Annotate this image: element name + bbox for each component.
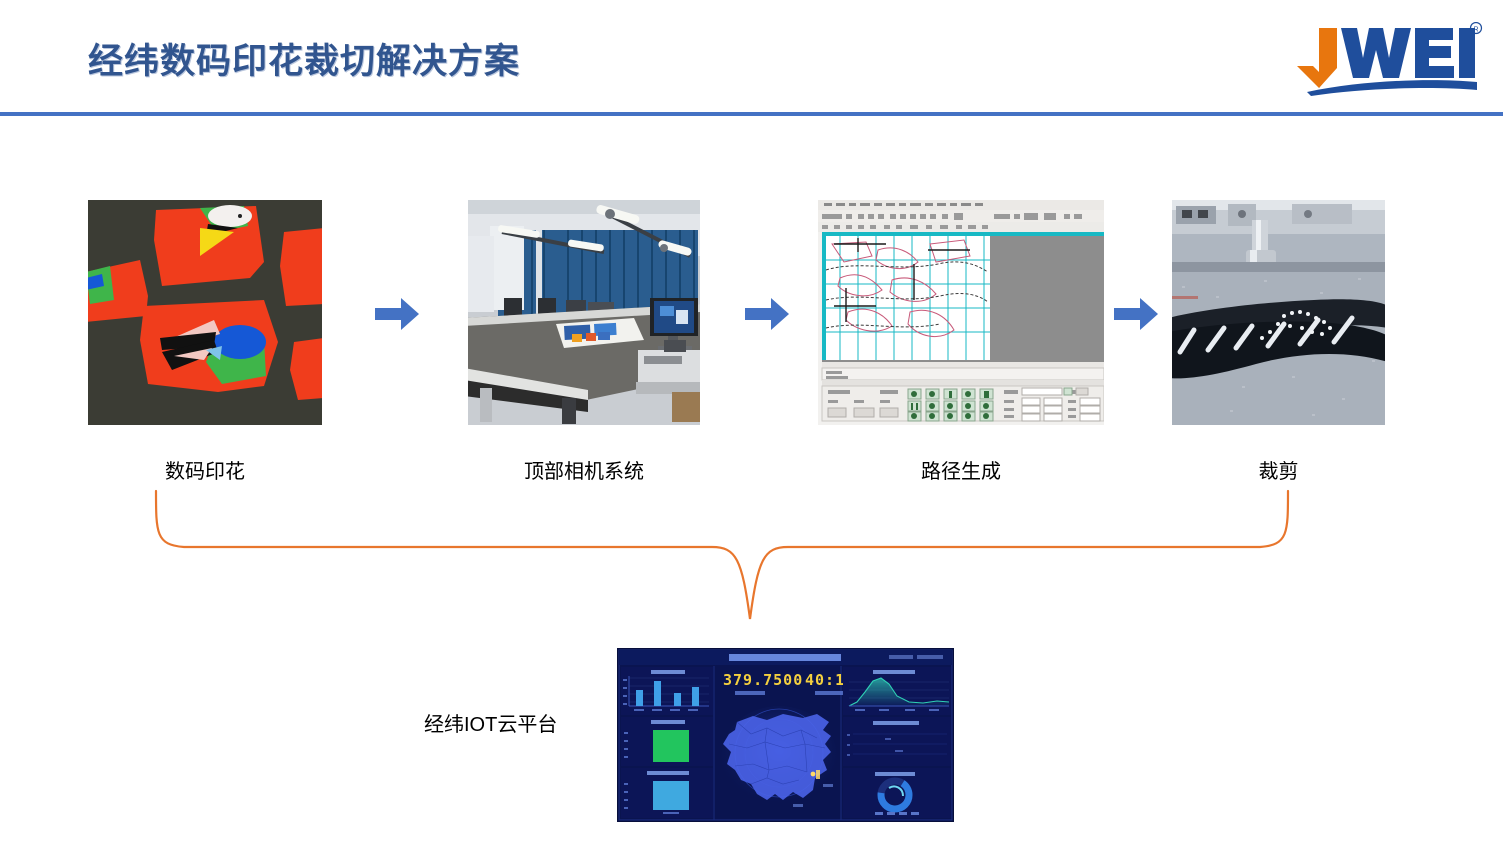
flow-step-3-label: 路径生成: [818, 455, 1104, 484]
header-divider: [0, 112, 1503, 116]
svg-text:R: R: [1473, 27, 1478, 34]
left-panel-blue-block: [621, 768, 713, 818]
flow-step-2-label: 顶部相机系统: [468, 455, 700, 484]
flow-arrow-3: [1114, 297, 1158, 331]
right-panel-empty-chart: [843, 717, 951, 766]
flow-step-2-image: [468, 200, 700, 425]
page-title: 经纬数码印花裁切解决方案: [88, 33, 520, 84]
iot-platform-label: 经纬IOT云平台: [424, 708, 557, 737]
left-panel-bar-chart: [621, 667, 713, 715]
flow-step-3-image: [818, 200, 1104, 425]
logo-letter-j: [1297, 28, 1337, 88]
flow-step-4-label: 裁剪: [1172, 455, 1385, 484]
logo-letter-wei: [1341, 28, 1475, 78]
right-panel-area-chart: [843, 667, 951, 715]
flow-step-1-image: [88, 200, 322, 425]
left-panel-green-block: [621, 717, 713, 766]
dashboard-title: [729, 654, 841, 661]
grouping-brace: [140, 487, 1305, 622]
flow-step-1-label: 数码印花: [88, 455, 322, 484]
jwei-logo: R: [1293, 22, 1483, 100]
flow-arrow-1: [375, 297, 419, 331]
iot-dashboard-image: 379.7500 40:19'26": [617, 648, 954, 822]
right-panel-donut-gauge: [843, 768, 951, 818]
slide-header: 经纬数码印花裁切解决方案 R: [0, 0, 1503, 115]
flow-step-4-image: [1172, 200, 1385, 425]
logo-swoosh: [1307, 80, 1477, 96]
flow-arrow-2: [745, 297, 789, 331]
svg-text:379.7500: 379.7500: [723, 671, 803, 689]
